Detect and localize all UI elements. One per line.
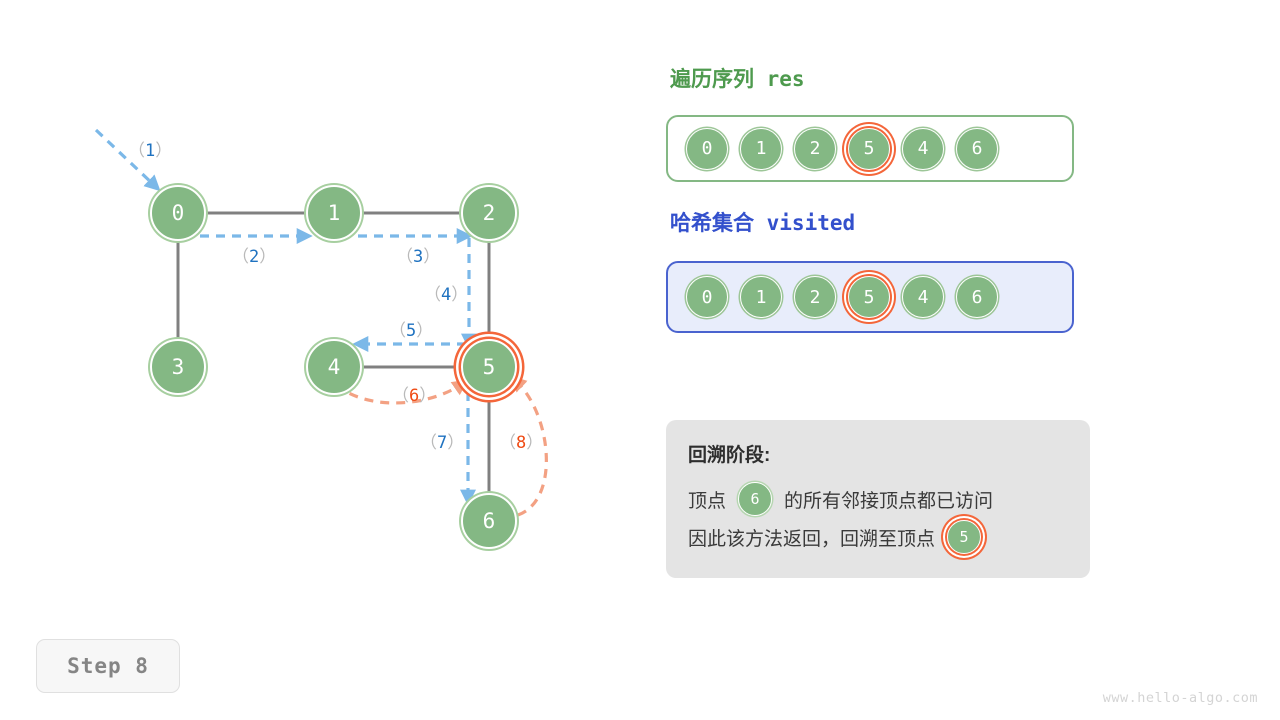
visit-arrow-group xyxy=(96,130,469,498)
explanation-heading: 回溯阶段: xyxy=(688,440,1068,467)
visited-item[interactable]: 2 xyxy=(794,276,836,318)
state-panel: 遍历序列 res 0 1 2 5 4 6 哈希集合 visited 0 1 2 … xyxy=(666,0,1280,720)
explanation-line-1-prefix: 顶点 xyxy=(688,486,726,513)
graph-edges-and-arrows xyxy=(0,0,640,620)
visited-item[interactable]: 6 xyxy=(956,276,998,318)
graph-node-0-label: 0 xyxy=(172,201,185,225)
explanation-line-2-prefix: 因此该方法返回，回溯至顶点 xyxy=(688,524,935,551)
res-item[interactable]: 1 xyxy=(740,128,782,170)
explanation-line-1-suffix: 的所有邻接顶点都已访问 xyxy=(784,486,993,513)
arrow-label-6: （6） xyxy=(392,381,436,406)
res-list: 0 1 2 5 4 6 xyxy=(666,115,1074,182)
graph-node-4[interactable]: 4 xyxy=(306,339,362,395)
res-item[interactable]: 6 xyxy=(956,128,998,170)
visited-title: 哈希集合 visited xyxy=(670,207,855,237)
res-item[interactable]: 2 xyxy=(794,128,836,170)
visited-item[interactable]: 5 xyxy=(848,276,890,318)
graph-node-2[interactable]: 2 xyxy=(461,185,517,241)
arrow-label-1: （1） xyxy=(128,136,172,161)
graph-node-1-label: 1 xyxy=(328,201,341,225)
graph-node-2-label: 2 xyxy=(483,201,496,225)
arrow-label-8: （8） xyxy=(499,428,543,453)
explanation-line-1: 顶点 6 的所有邻接顶点都已访问 xyxy=(688,480,1068,518)
arrow-label-7: （7） xyxy=(420,428,464,453)
arrow-label-4: （4） xyxy=(424,280,468,305)
visited-item[interactable]: 1 xyxy=(740,276,782,318)
res-item[interactable]: 5 xyxy=(848,128,890,170)
graph-node-0[interactable]: 0 xyxy=(150,185,206,241)
graph-node-3-label: 3 xyxy=(172,355,185,379)
graph-diagram: 0 1 2 3 4 5 6 （1） （2） （3） （4） xyxy=(0,0,640,620)
explanation-box: 回溯阶段: 顶点 6 的所有邻接顶点都已访问 因此该方法返回，回溯至顶点 5 xyxy=(666,420,1090,578)
watermark: www.hello-algo.com xyxy=(1103,690,1258,706)
graph-node-5[interactable]: 5 xyxy=(461,339,517,395)
arrow-label-5: （5） xyxy=(389,316,433,341)
graph-node-3[interactable]: 3 xyxy=(150,339,206,395)
graph-node-5-label: 5 xyxy=(483,355,496,379)
arrow-label-3: （3） xyxy=(396,242,440,267)
inline-vertex-badge-highlight: 5 xyxy=(947,520,981,554)
visited-item[interactable]: 0 xyxy=(686,276,728,318)
res-item[interactable]: 4 xyxy=(902,128,944,170)
graph-node-6[interactable]: 6 xyxy=(461,493,517,549)
inline-vertex-badge: 6 xyxy=(738,482,772,516)
arrow-label-2: （2） xyxy=(232,242,276,267)
res-item[interactable]: 0 xyxy=(686,128,728,170)
graph-node-1[interactable]: 1 xyxy=(306,185,362,241)
explanation-line-2: 因此该方法返回，回溯至顶点 5 xyxy=(688,518,1068,556)
visited-item[interactable]: 4 xyxy=(902,276,944,318)
res-title: 遍历序列 res xyxy=(670,63,805,93)
graph-node-6-label: 6 xyxy=(483,509,496,533)
graph-node-4-label: 4 xyxy=(328,355,341,379)
visited-set: 0 1 2 5 4 6 xyxy=(666,261,1074,333)
slide-canvas: 0 1 2 3 4 5 6 （1） （2） （3） （4） xyxy=(0,0,1280,720)
step-indicator: Step 8 xyxy=(36,639,180,693)
